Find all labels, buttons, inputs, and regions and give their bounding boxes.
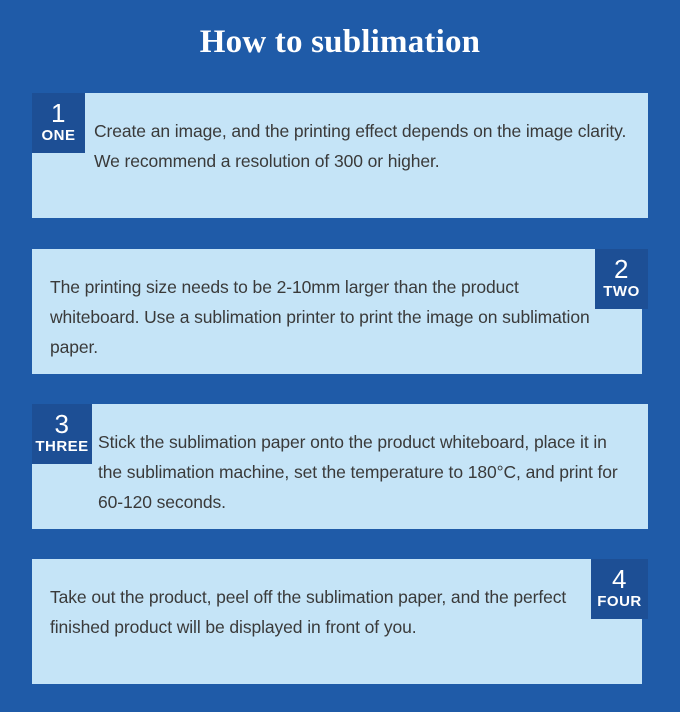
step-number-badge-2: 2 TWO	[595, 249, 648, 309]
step-number: 1	[51, 100, 66, 127]
step-text: Take out the product, peel off the subli…	[50, 582, 608, 642]
step-item-1: 1 ONE Create an image, and the printing …	[32, 93, 648, 218]
step-number-word: ONE	[41, 127, 75, 145]
step-number: 4	[612, 566, 627, 593]
step-number-badge-4: 4 FOUR	[591, 559, 648, 619]
step-number-word: FOUR	[597, 593, 642, 611]
step-item-4: 4 FOUR Take out the product, peel off th…	[32, 559, 648, 684]
step-number-word: THREE	[35, 438, 88, 456]
step-number-word: TWO	[603, 283, 640, 301]
step-item-2: 2 TWO The printing size needs to be 2-10…	[32, 249, 648, 374]
step-number-badge-3: 3 THREE	[32, 404, 92, 464]
step-number: 3	[55, 411, 70, 438]
step-number-badge-1: 1 ONE	[32, 93, 85, 153]
infographic-page: How to sublimation 1 ONE Create an image…	[0, 0, 680, 712]
step-text: Create an image, and the printing effect…	[94, 116, 634, 176]
step-number: 2	[614, 256, 629, 283]
step-text: Stick the sublimation paper onto the pro…	[98, 427, 634, 517]
step-item-3: 3 THREE Stick the sublimation paper onto…	[32, 404, 648, 529]
page-title: How to sublimation	[0, 20, 680, 64]
step-text: The printing size needs to be 2-10mm lar…	[50, 272, 612, 362]
